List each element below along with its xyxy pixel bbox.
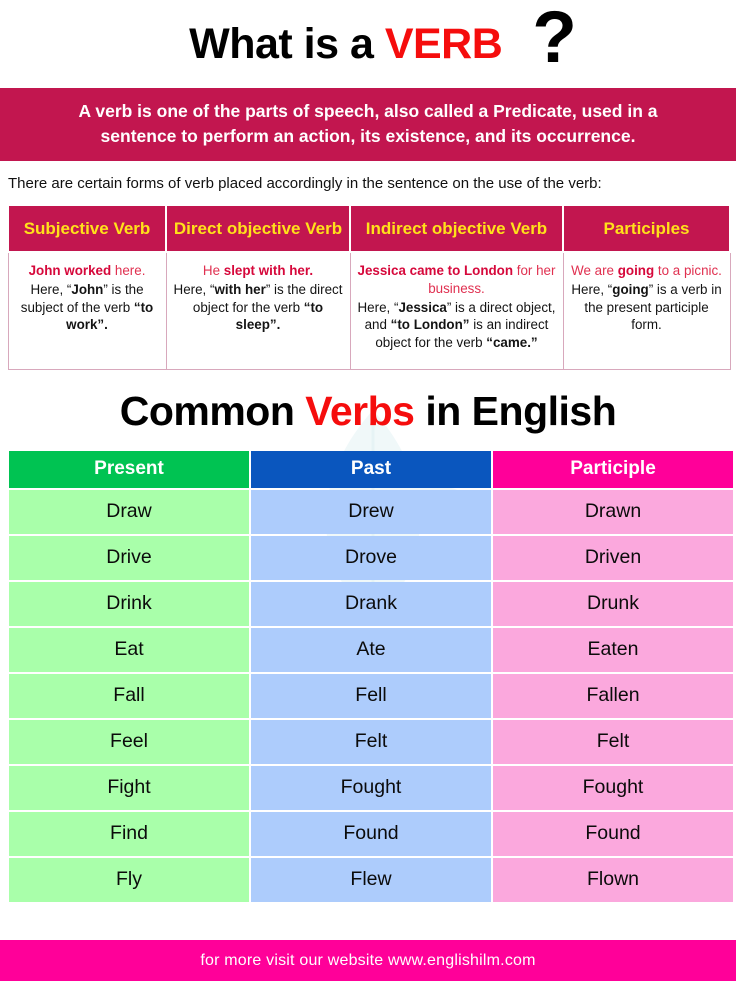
verbs-cell-participle: Driven <box>493 536 733 580</box>
verbs-cell-present: Fall <box>9 674 249 718</box>
verbs-cell-participle: Eaten <box>493 628 733 672</box>
common-verbs-heading-part1: Common <box>120 388 306 434</box>
verbs-header-present: Present <box>9 451 249 488</box>
page-title: What is a VERB <box>189 20 502 69</box>
verbs-cell-participle: Drunk <box>493 582 733 626</box>
verbs-cell-participle: Felt <box>493 720 733 764</box>
verbs-cell-present: Drink <box>9 582 249 626</box>
verbs-cell-participle: Fought <box>493 766 733 810</box>
forms-header-direct-objective: Direct objective Verb <box>166 205 350 252</box>
verbs-cell-past: Drank <box>251 582 491 626</box>
forms-header-subjective: Subjective Verb <box>8 205 166 252</box>
forms-cell-indirect-objective: Jessica came to London for her business.… <box>350 252 563 370</box>
verbs-cell-past: Flew <box>251 858 491 902</box>
verbs-cell-participle: Fallen <box>493 674 733 718</box>
verbs-cell-present: Draw <box>9 490 249 534</box>
verbs-cell-past: Fought <box>251 766 491 810</box>
common-verbs-heading-part2: in English <box>414 388 616 434</box>
verbs-table-row: DrawDrewDrawn <box>9 490 733 534</box>
verbs-header-past: Past <box>251 451 491 488</box>
verb-forms-table: Subjective Verb Direct objective Verb In… <box>7 204 731 371</box>
verbs-table-row: DriveDroveDriven <box>9 536 733 580</box>
forms-cell-subjective: John worked here. Here, “John” is the su… <box>8 252 166 370</box>
definition-banner: A verb is one of the parts of speech, al… <box>0 88 736 161</box>
verbs-table-header-row: Present Past Participle <box>9 451 733 488</box>
verbs-cell-past: Fell <box>251 674 491 718</box>
verbs-table-row: FightFoughtFought <box>9 766 733 810</box>
forms-example-subjective: John worked here. <box>16 262 159 280</box>
verbs-table-body: DrawDrewDrawnDriveDroveDrivenDrinkDrankD… <box>9 490 733 902</box>
infographic-page: What is a VERB ? A verb is one of the pa… <box>0 0 736 981</box>
forms-explain-subjective: Here, “John” is the subject of the verb … <box>16 281 159 334</box>
footer-bar: for more visit our website www.englishil… <box>0 940 736 981</box>
verbs-table-row: DrinkDrankDrunk <box>9 582 733 626</box>
verbs-cell-past: Ate <box>251 628 491 672</box>
verbs-cell-present: Fly <box>9 858 249 902</box>
forms-example-participles: We are going to a picnic. <box>571 262 723 280</box>
page-title-block: What is a VERB ? <box>0 0 736 88</box>
verbs-cell-participle: Drawn <box>493 490 733 534</box>
verbs-cell-participle: Flown <box>493 858 733 902</box>
common-verbs-heading: Common Verbs in English <box>0 370 736 449</box>
verbs-cell-past: Found <box>251 812 491 856</box>
forms-explain-indirect-objective: Here, “Jessica” is a direct object, and … <box>358 299 556 352</box>
verbs-cell-present: Feel <box>9 720 249 764</box>
forms-table-body-row: John worked here. Here, “John” is the su… <box>8 252 730 370</box>
verbs-cell-present: Eat <box>9 628 249 672</box>
verbs-cell-present: Find <box>9 812 249 856</box>
forms-header-participles: Participles <box>563 205 730 252</box>
verbs-cell-past: Drew <box>251 490 491 534</box>
intro-text: There are certain forms of verb placed a… <box>0 161 736 204</box>
verbs-table-row: FallFellFallen <box>9 674 733 718</box>
forms-header-indirect-objective: Indirect objective Verb <box>350 205 563 252</box>
footer-text: for more visit our website www.englishil… <box>200 952 535 970</box>
verbs-header-participle: Participle <box>493 451 733 488</box>
verbs-table-row: FlyFlewFlown <box>9 858 733 902</box>
verbs-cell-past: Felt <box>251 720 491 764</box>
verbs-cell-participle: Found <box>493 812 733 856</box>
verbs-cell-present: Fight <box>9 766 249 810</box>
common-verbs-table: Present Past Participle DrawDrewDrawnDri… <box>7 449 735 904</box>
verbs-table-row: FindFoundFound <box>9 812 733 856</box>
forms-example-indirect-objective: Jessica came to London for her business. <box>358 262 556 298</box>
verbs-table-row: FeelFeltFelt <box>9 720 733 764</box>
forms-explain-direct-objective: Here, “with her” is the direct object fo… <box>174 281 343 334</box>
forms-cell-participles: We are going to a picnic. Here, “going” … <box>563 252 730 370</box>
verbs-cell-present: Drive <box>9 536 249 580</box>
forms-table-header-row: Subjective Verb Direct objective Verb In… <box>8 205 730 252</box>
forms-explain-participles: Here, “going” is a verb in the present p… <box>571 281 723 334</box>
common-verbs-heading-accent: Verbs <box>305 388 414 434</box>
question-mark-glyph: ? <box>532 1 577 74</box>
page-title-prefix: What is a <box>189 20 385 68</box>
verbs-cell-past: Drove <box>251 536 491 580</box>
forms-example-direct-objective: He slept with her. <box>174 262 343 280</box>
forms-cell-direct-objective: He slept with her. Here, “with her” is t… <box>166 252 350 370</box>
page-title-accent: VERB <box>385 20 502 68</box>
verbs-table-row: EatAteEaten <box>9 628 733 672</box>
